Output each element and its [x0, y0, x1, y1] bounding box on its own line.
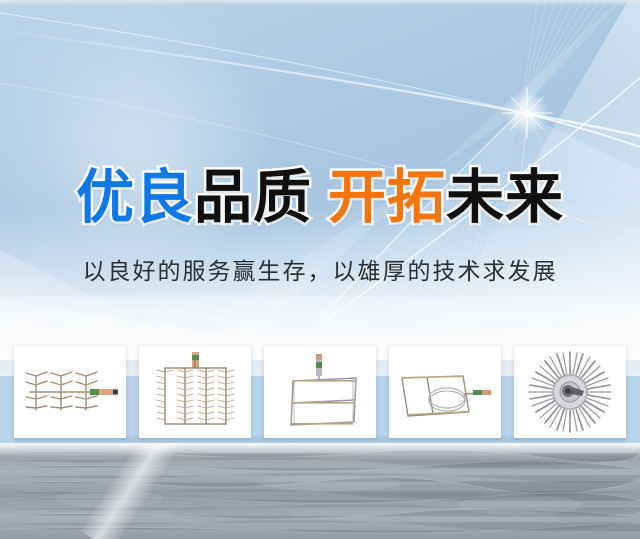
headline-part-4: 未来 [446, 163, 564, 231]
ground-horizon-highlight [0, 443, 640, 457]
double-row-spiked-rack-image [139, 346, 251, 438]
headline-part-1: 优良 [76, 163, 194, 231]
product-card[interactable] [389, 346, 501, 438]
rectangular-wire-frame-image [264, 346, 376, 438]
product-card-list [14, 346, 626, 438]
product-card[interactable] [264, 346, 376, 438]
product-card[interactable] [14, 346, 126, 438]
ground-surface [0, 443, 640, 539]
sky-top-edge [0, 0, 640, 6]
radial-spoke-disc-image [514, 346, 626, 438]
promo-banner: 优良品质开拓未来 以良好的服务赢生存，以雄厚的技术求发展 [0, 0, 640, 539]
flat-wire-frame-with-ring-image [389, 346, 501, 438]
product-card[interactable] [514, 346, 626, 438]
page-subtitle: 以良好的服务赢生存，以雄厚的技术求发展 [0, 257, 640, 287]
branched-wire-rack-image [14, 346, 126, 438]
cards-drop-shadow [14, 437, 626, 445]
headline-part-3: 开拓 [328, 163, 446, 231]
page-title: 优良品质开拓未来 [0, 166, 640, 228]
product-card[interactable] [139, 346, 251, 438]
headline-part-2: 品质 [194, 163, 312, 231]
